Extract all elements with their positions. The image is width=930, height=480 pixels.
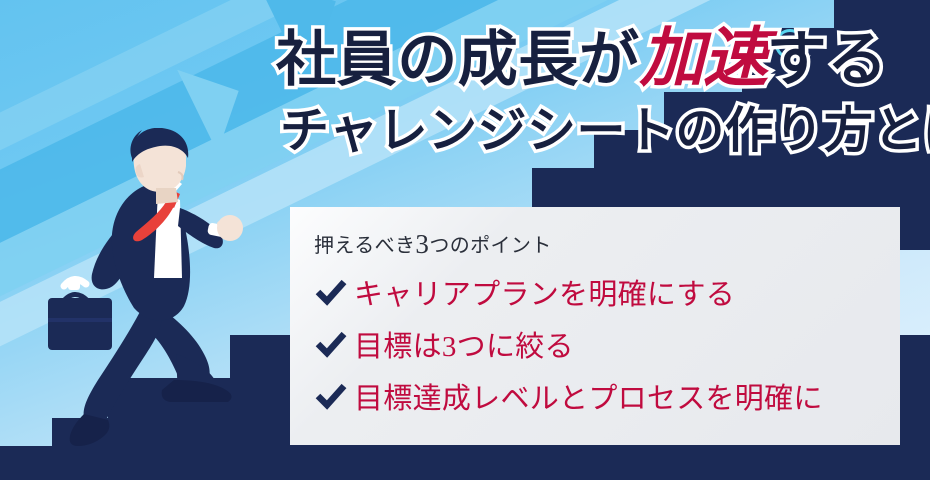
headline-line-1-post: する [767, 26, 888, 93]
points-panel: 押えるべき3つのポイント キャリアプランを明確にする 目標は3つに絞る 目標達成… [290, 207, 900, 445]
list-item: キャリアプランを明確にする [314, 268, 900, 316]
bottom-navy-band [0, 446, 930, 480]
headline-line-2: チャレンジシートの作り方とは？ [268, 107, 928, 156]
businessman-illustration [48, 128, 298, 448]
panel-heading: 押えるべき3つのポイント [314, 229, 900, 260]
headline-line-1: 社員の成長が加速する [268, 26, 928, 91]
point-label: 目標は3つに絞る [354, 323, 574, 365]
check-icon [314, 327, 348, 361]
panel-heading-pre: 押えるべき [314, 235, 415, 257]
point-label: キャリアプランを明確にする [354, 271, 735, 313]
list-item: 目標達成レベルとプロセスを明確に [314, 372, 900, 420]
headline-accent-word: 加速 [640, 21, 767, 94]
headline-group: 社員の成長が加速する チャレンジシートの作り方とは？ [268, 26, 928, 156]
points-list: キャリアプランを明確にする 目標は3つに絞る 目標達成レベルとプロセスを明確に [314, 268, 900, 420]
panel-heading-post: つのポイント [429, 235, 551, 257]
promo-banner: 社員の成長が加速する チャレンジシートの作り方とは？ 押えるべき3つのポイント … [0, 0, 930, 480]
check-icon [314, 379, 348, 413]
panel-heading-number: 3 [415, 229, 429, 259]
headline-line-1-pre: 社員の成長が [276, 26, 640, 93]
check-icon [314, 275, 348, 309]
list-item: 目標は3つに絞る [314, 320, 900, 368]
point-label: 目標達成レベルとプロセスを明確に [354, 375, 823, 417]
